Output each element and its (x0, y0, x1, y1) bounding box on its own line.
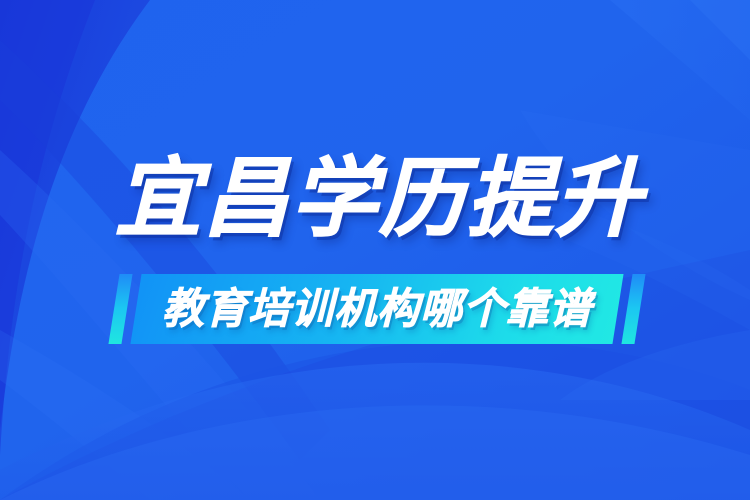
accent-bar-left-icon (108, 274, 132, 344)
subtitle-ribbon-body: 教育培训机构哪个靠谱 (130, 274, 623, 344)
subtitle-ribbon: 教育培训机构哪个靠谱 (114, 274, 640, 344)
promo-banner: 宜昌学历提升 教育培训机构哪个靠谱 (0, 0, 750, 500)
accent-bar-right-icon (621, 274, 645, 344)
subtitle-text: 教育培训机构哪个靠谱 (162, 288, 592, 330)
page-title: 宜昌学历提升 (115, 156, 643, 244)
banner-content: 宜昌学历提升 教育培训机构哪个靠谱 (0, 0, 750, 500)
